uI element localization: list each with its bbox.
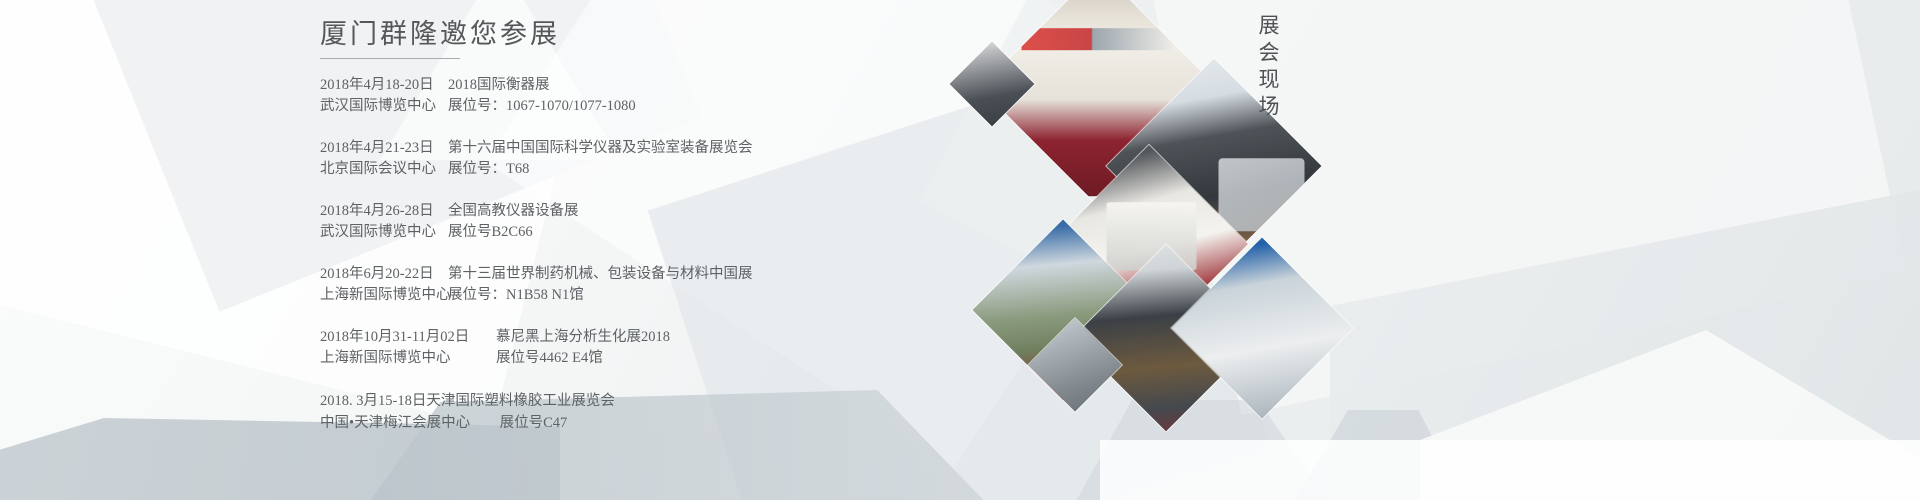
event-name: 全国高教仪器设备展: [448, 201, 579, 222]
event-date: 2018年6月20-22日: [320, 264, 448, 285]
banner-stage: 厦门群隆邀您参展 2018年4月18-20日 2018国际衡器展 武汉国际博览中…: [0, 0, 1920, 500]
event-row-top: 2018年6月20-22日 第十三届世界制药机械、包装设备与材料中国展: [320, 264, 980, 285]
event-venue: 武汉国际博览中心: [320, 222, 448, 243]
event-item: 2018年4月18-20日 2018国际衡器展 武汉国际博览中心 展位号：106…: [320, 75, 980, 117]
event-row-bottom: 上海新国际博览中心 展位号4462 E4馆: [320, 348, 980, 369]
event-item: 2018年4月21-23日 第十六届中国国际科学仪器及实验室装备展览会 北京国际…: [320, 138, 980, 180]
event-booth: 展位号：T68: [448, 159, 529, 180]
event-row-bottom: 武汉国际博览中心 展位号：1067-1070/1077-1080: [320, 96, 980, 117]
vertical-section-title: 展会现场: [1247, 14, 1283, 122]
event-venue: 上海新国际博览中心: [320, 348, 496, 369]
event-row-top: 2018. 3月15-18日天津国际塑料橡胶工业展览会: [320, 390, 980, 412]
event-booth: 展位号：1067-1070/1077-1080: [448, 96, 636, 117]
event-venue: 上海新国际博览中心: [320, 285, 448, 306]
event-row-bottom: 北京国际会议中心 展位号：T68: [320, 159, 980, 180]
event-name: 第十三届世界制药机械、包装设备与材料中国展: [448, 264, 753, 285]
event-date: 2018年10月31-11月02日: [320, 327, 496, 348]
event-booth: 展位号4462 E4馆: [496, 348, 603, 369]
page-title: 厦门群隆邀您参展: [320, 18, 980, 58]
event-name: 2018国际衡器展: [448, 75, 550, 96]
event-item: 2018年6月20-22日 第十三届世界制药机械、包装设备与材料中国展 上海新国…: [320, 264, 980, 306]
event-row-bottom: 上海新国际博览中心 展位号：N1B58 N1馆: [320, 285, 980, 306]
background-facet: [1420, 330, 1920, 500]
event-date: 2018年4月18-20日: [320, 75, 448, 96]
event-item: 2018年10月31-11月02日 慕尼黑上海分析生化展2018 上海新国际博览…: [320, 327, 980, 369]
event-item: 2018年4月26-28日 全国高教仪器设备展 武汉国际博览中心 展位号B2C6…: [320, 201, 980, 243]
background-facet: [1330, 180, 1920, 500]
event-title-line: 2018. 3月15-18日天津国际塑料橡胶工业展览会: [320, 393, 615, 409]
event-date: 2018年4月26-28日: [320, 201, 448, 222]
event-row-top: 2018年4月18-20日 2018国际衡器展: [320, 75, 980, 96]
event-row-bottom: 武汉国际博览中心 展位号B2C66: [320, 222, 980, 243]
photo-collage: [1020, 0, 1380, 494]
event-booth: 展位号C47: [500, 415, 568, 431]
event-venue: 武汉国际博览中心: [320, 96, 448, 117]
event-venue: 中国•天津梅江会展中心: [320, 412, 496, 434]
event-date: 2018年4月21-23日: [320, 138, 448, 159]
exhibition-list: 厦门群隆邀您参展 2018年4月18-20日 2018国际衡器展 武汉国际博览中…: [320, 18, 980, 455]
event-name: 第十六届中国国际科学仪器及实验室装备展览会: [448, 138, 753, 159]
title-underline: [320, 58, 460, 59]
event-venue: 北京国际会议中心: [320, 159, 448, 180]
event-row-top: 2018年4月21-23日 第十六届中国国际科学仪器及实验室装备展览会: [320, 138, 980, 159]
event-row-bottom: 中国•天津梅江会展中心 展位号C47: [320, 412, 980, 434]
event-item: 2018. 3月15-18日天津国际塑料橡胶工业展览会 中国•天津梅江会展中心 …: [320, 390, 980, 434]
event-booth: 展位号：N1B58 N1馆: [448, 285, 584, 306]
event-row-top: 2018年10月31-11月02日 慕尼黑上海分析生化展2018: [320, 327, 980, 348]
event-name: 慕尼黑上海分析生化展2018: [496, 327, 670, 348]
event-booth: 展位号B2C66: [448, 222, 533, 243]
event-row-top: 2018年4月26-28日 全国高教仪器设备展: [320, 201, 980, 222]
